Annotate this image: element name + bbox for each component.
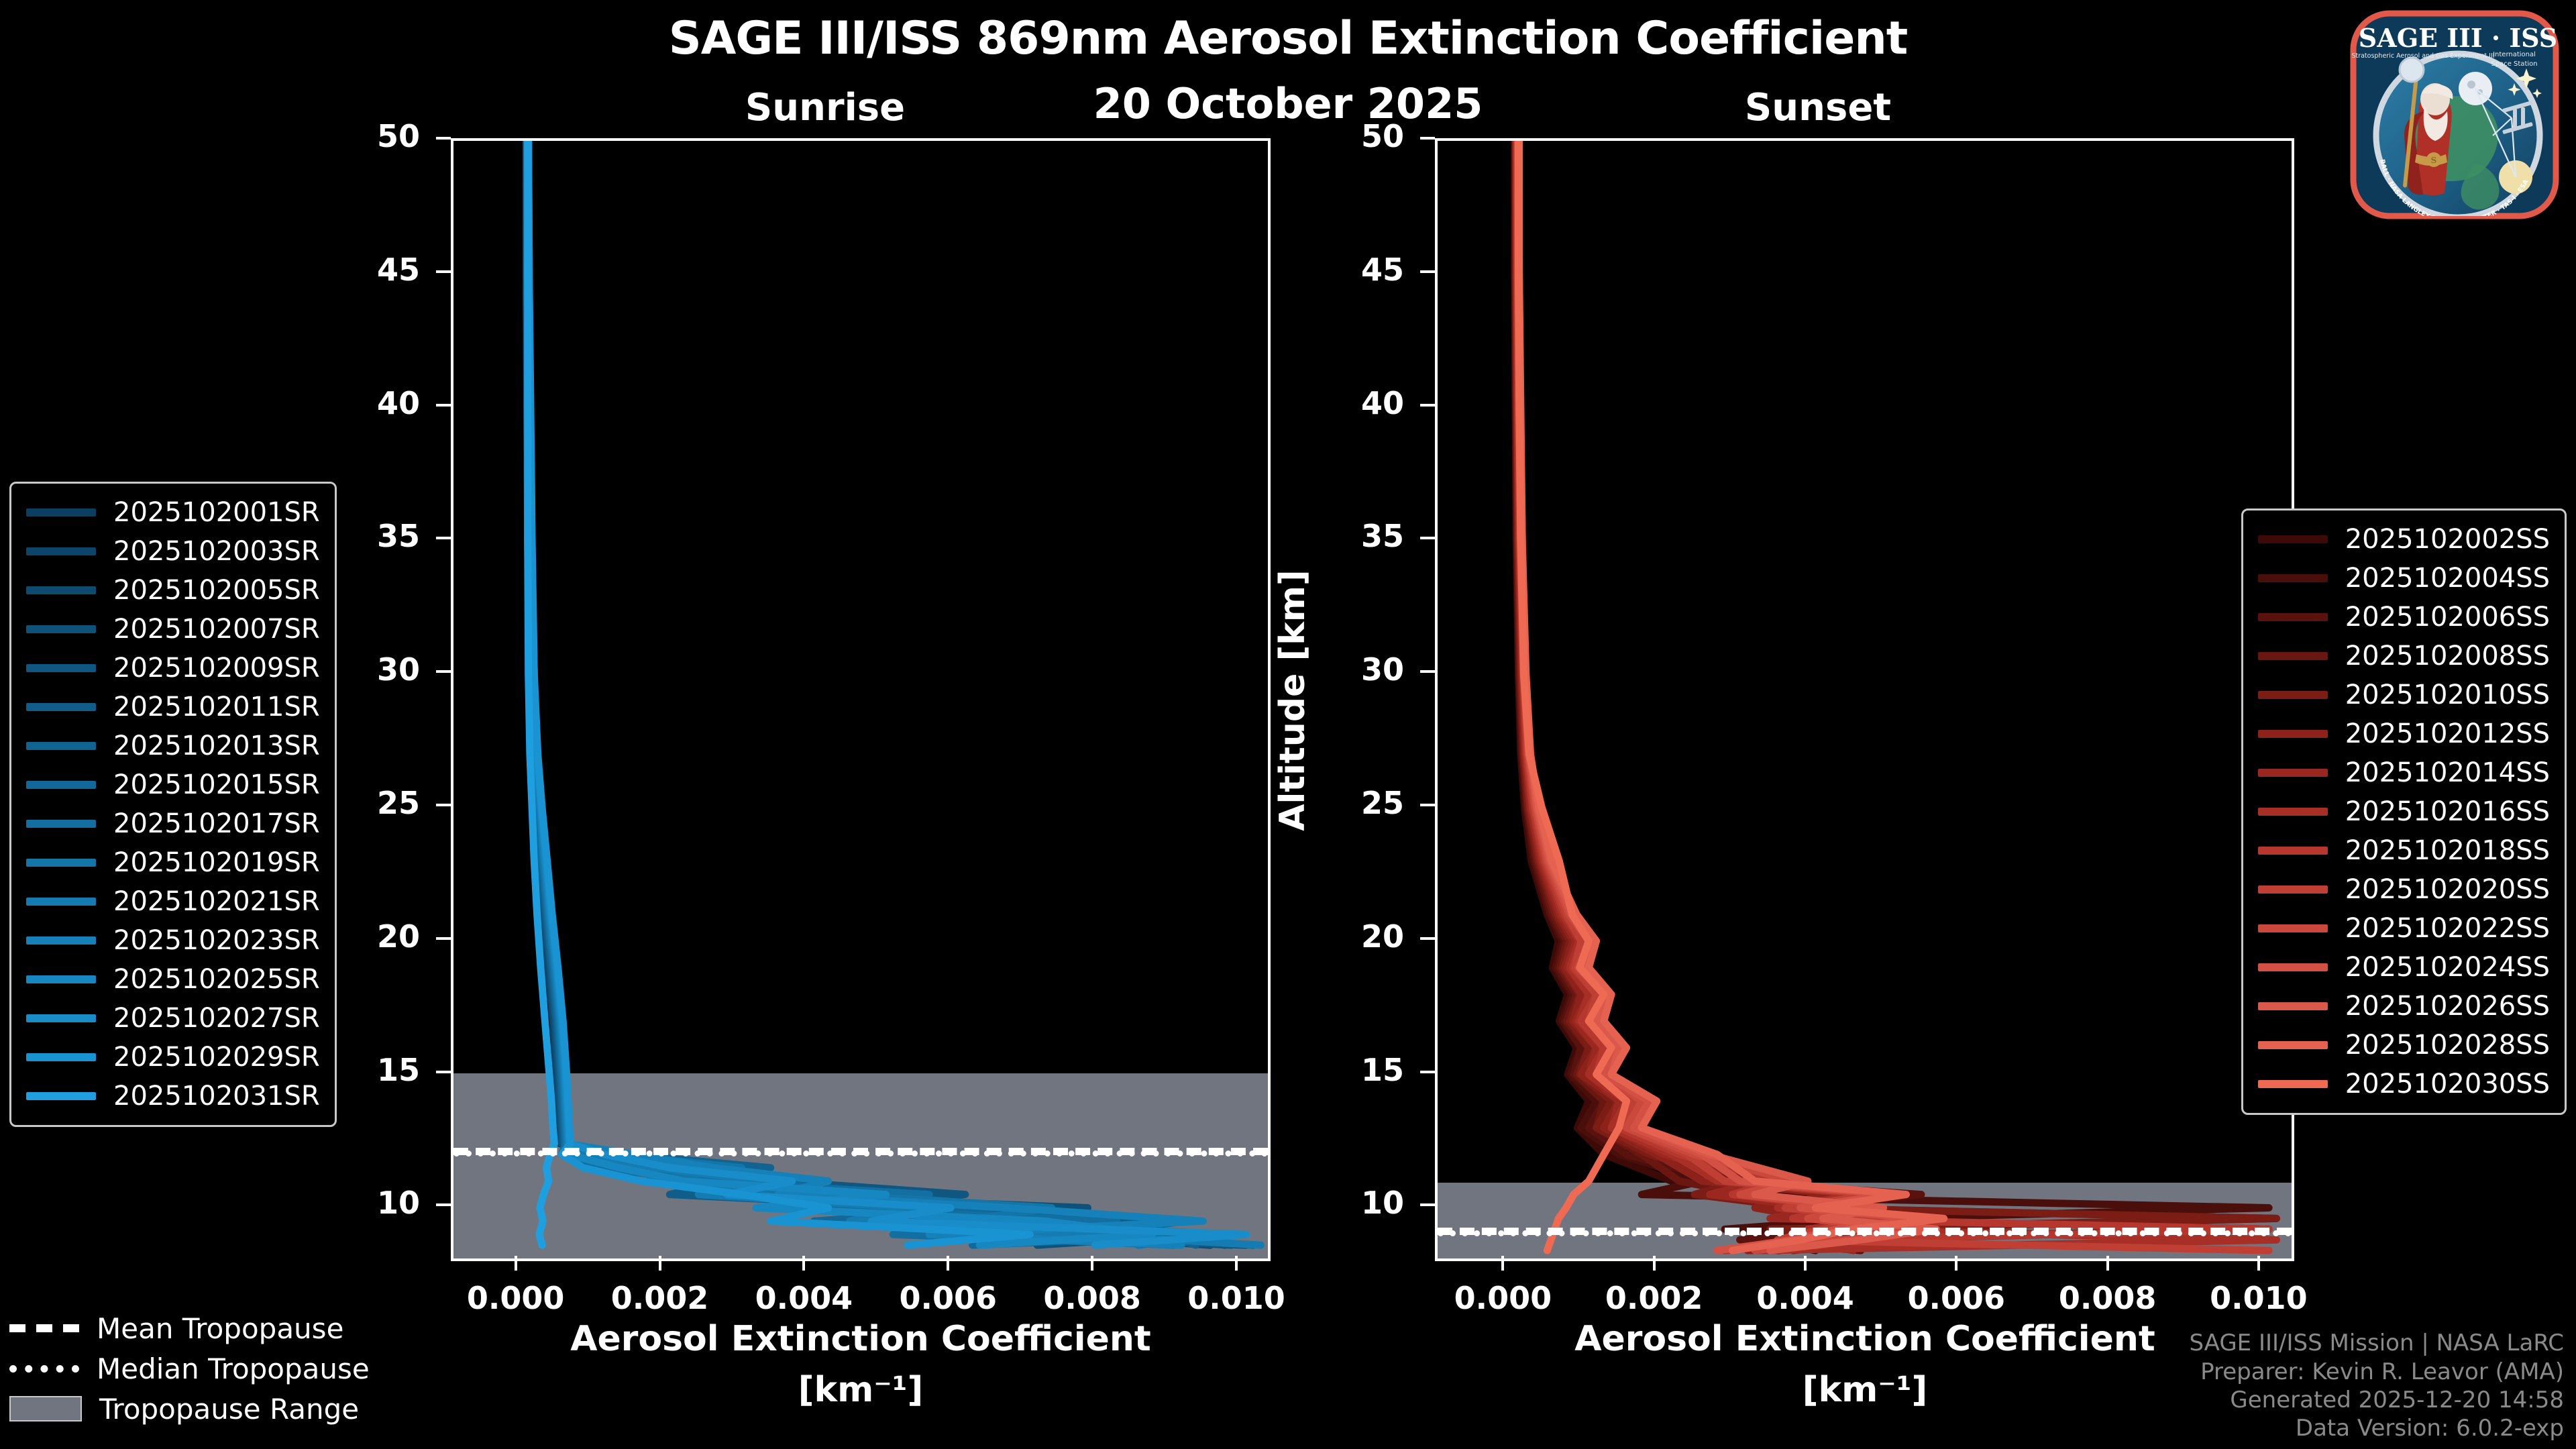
x-tick <box>1955 1256 1957 1271</box>
y-tick <box>436 137 451 140</box>
x-tick <box>1804 1256 1807 1271</box>
legend-label: 2025102022SS <box>2345 913 2550 944</box>
x-tick <box>1235 1256 1238 1271</box>
x-tick-label: 0.010 <box>2171 1280 2346 1316</box>
legend-label-tropopause-range: Tropopause Range <box>99 1393 359 1426</box>
legend-label: 2025102003SR <box>113 536 320 567</box>
legend-label: 2025102009SR <box>113 653 320 684</box>
legend-item[interactable]: 2025102002SS <box>2258 520 2550 559</box>
legend-label: 2025102011SR <box>113 692 320 722</box>
legend-item[interactable]: 2025102005SR <box>26 571 320 610</box>
y-tick <box>1420 537 1435 539</box>
legend-label: 2025102013SR <box>113 731 320 761</box>
y-tick <box>1420 1071 1435 1073</box>
legend-item[interactable]: 2025102018SS <box>2258 831 2550 870</box>
sunset-x-axis-label: Aerosol Extinction Coefficient <box>1462 1319 2267 1359</box>
series-line <box>528 141 1232 1245</box>
y-tick-label: 20 <box>1290 918 1404 955</box>
legend-label: 2025102008SS <box>2345 641 2550 672</box>
series-color-swatch <box>26 664 96 672</box>
y-tick-label: 10 <box>1290 1185 1404 1221</box>
y-tick <box>436 804 451 806</box>
x-tick-label: 0.006 <box>1869 1280 2043 1316</box>
legend-label: 2025102023SR <box>113 925 320 956</box>
x-tick <box>1091 1256 1093 1271</box>
median-tropopause-line <box>453 1150 1268 1157</box>
legend-item-tropopause-range: Tropopause Range <box>9 1389 370 1429</box>
legend-label: 2025102018SS <box>2345 835 2550 866</box>
y-tick <box>436 1071 451 1073</box>
legend-label: 2025102025SR <box>113 964 320 995</box>
series-color-swatch <box>2258 847 2328 855</box>
sunrise-x-axis-label: Aerosol Extinction Coefficient <box>458 1319 1263 1359</box>
legend-label: 2025102030SS <box>2345 1069 2550 1099</box>
legend-item[interactable]: 2025102016SS <box>2258 792 2550 831</box>
legend-label: 2025102001SR <box>113 497 320 528</box>
credit-line-generated: Generated 2025-12-20 14:58 <box>2189 1386 2564 1414</box>
series-color-swatch <box>2258 691 2328 699</box>
sunset-legend[interactable]: 2025102002SS2025102004SS2025102006SS2025… <box>2241 508 2567 1115</box>
x-tick <box>947 1256 949 1271</box>
series-color-swatch <box>26 975 96 983</box>
y-tick <box>436 937 451 940</box>
x-tick <box>802 1256 805 1271</box>
legend-label: 2025102002SS <box>2345 524 2550 555</box>
median-tropopause-line <box>1438 1230 2292 1236</box>
legend-label: 2025102028SS <box>2345 1030 2550 1061</box>
series-color-swatch <box>2258 1080 2328 1088</box>
series-color-swatch <box>26 508 96 517</box>
dashed-line-icon <box>9 1324 79 1332</box>
series-line <box>527 141 1218 1245</box>
sunset-x-axis-units: [km⁻¹] <box>1462 1370 2267 1410</box>
legend-label: 2025102015SR <box>113 769 320 800</box>
legend-label: 2025102026SS <box>2345 991 2550 1022</box>
legend-item[interactable]: 2025102001SR <box>26 493 320 532</box>
series-color-swatch <box>26 936 96 945</box>
legend-label: 2025102019SR <box>113 847 320 878</box>
series-line <box>528 141 1261 1245</box>
x-tick <box>515 1256 517 1271</box>
series-color-swatch <box>26 586 96 594</box>
y-tick <box>1420 804 1435 806</box>
series-line <box>529 141 1246 1245</box>
series-color-swatch <box>2258 1041 2328 1049</box>
y-tick <box>436 404 451 407</box>
y-tick <box>1420 937 1435 940</box>
series-line <box>527 141 1225 1245</box>
legend-label: 2025102031SR <box>113 1081 320 1112</box>
legend-label: 2025102016SS <box>2345 796 2550 827</box>
sunset-series-group <box>1438 141 2292 1258</box>
legend-item[interactable]: 2025102009SR <box>26 649 320 688</box>
svg-text:SAGE III · ISS: SAGE III · ISS <box>2359 23 2557 53</box>
series-color-swatch <box>2258 730 2328 738</box>
svg-text:International: International <box>2493 51 2536 58</box>
y-tick <box>1420 137 1435 140</box>
legend-item[interactable]: 2025102029SR <box>26 1038 320 1077</box>
legend-label-mean-tropopause: Mean Tropopause <box>97 1312 343 1345</box>
series-color-swatch <box>2258 924 2328 932</box>
legend-label: 2025102021SR <box>113 886 320 917</box>
legend-item[interactable]: 2025102024SS <box>2258 948 2550 987</box>
series-line <box>527 141 1232 1245</box>
legend-label: 2025102014SS <box>2345 757 2550 788</box>
sunset-plot-area <box>1435 138 2294 1261</box>
y-tick-label: 45 <box>1290 252 1404 288</box>
svg-text:S: S <box>2431 156 2437 165</box>
sunrise-x-axis-units: [km⁻¹] <box>458 1370 1263 1410</box>
legend-label: 2025102007SR <box>113 614 320 645</box>
sunset-y-axis-label: Altitude [km] <box>1273 499 1313 902</box>
legend-item[interactable]: 2025102020SS <box>2258 870 2550 909</box>
legend-item-median-tropopause: Median Tropopause <box>9 1348 370 1389</box>
legend-item-mean-tropopause: Mean Tropopause <box>9 1308 370 1348</box>
series-color-swatch <box>26 1014 96 1022</box>
legend-item[interactable]: 2025102004SS <box>2258 559 2550 598</box>
legend-label: 2025102017SR <box>113 808 320 839</box>
series-line <box>527 141 1203 1245</box>
legend-item[interactable]: 2025102019SR <box>26 843 320 882</box>
x-tick <box>1501 1256 1504 1271</box>
series-color-swatch <box>26 859 96 867</box>
series-line <box>528 141 1203 1245</box>
legend-label: 2025102020SS <box>2345 874 2550 905</box>
legend-item[interactable]: 2025102022SS <box>2258 909 2550 948</box>
legend-item[interactable]: 2025102021SR <box>26 882 320 921</box>
series-color-swatch <box>26 547 96 555</box>
y-tick <box>436 1203 451 1206</box>
legend-label: 2025102004SS <box>2345 563 2550 594</box>
legend-label-median-tropopause: Median Tropopause <box>97 1352 370 1385</box>
sunrise-panel-title: Sunrise <box>590 86 1060 129</box>
legend-label: 2025102012SS <box>2345 718 2550 749</box>
x-tick-label: 0.000 <box>1415 1280 1590 1316</box>
tropopause-legend: Mean Tropopause Median Tropopause Tropop… <box>9 1308 370 1429</box>
y-tick <box>436 670 451 673</box>
legend-item[interactable]: 2025102014SS <box>2258 753 2550 792</box>
credit-line-preparer: Preparer: Kevin R. Leavor (AMA) <box>2189 1358 2564 1386</box>
x-tick-label: 0.008 <box>2021 1280 2195 1316</box>
legend-item[interactable]: 2025102006SS <box>2258 598 2550 637</box>
legend-label: 2025102005SR <box>113 575 320 606</box>
legend-item[interactable]: 2025102015SR <box>26 765 320 804</box>
sunrise-legend[interactable]: 2025102001SR2025102003SR2025102005SR2025… <box>9 482 337 1127</box>
sunset-panel-title: Sunset <box>1583 86 2053 129</box>
series-color-swatch <box>2258 574 2328 582</box>
sunrise-plot-area <box>451 138 1271 1261</box>
y-tick <box>1420 670 1435 673</box>
y-tick <box>1420 1203 1435 1206</box>
series-line <box>527 141 1196 1245</box>
sage-iii-iss-logo: S BALL · NASA LANGLEY RESEARCH CENTER · … <box>2344 4 2565 225</box>
series-line <box>527 141 1211 1245</box>
series-color-swatch <box>2258 885 2328 894</box>
legend-item[interactable]: 2025102012SS <box>2258 714 2550 753</box>
y-tick <box>1420 404 1435 407</box>
y-tick <box>436 537 451 539</box>
legend-item[interactable]: 2025102027SR <box>26 999 320 1038</box>
legend-item[interactable]: 2025102023SR <box>26 921 320 960</box>
legend-item[interactable]: 2025102003SR <box>26 532 320 571</box>
x-tick-label: 0.010 <box>1149 1280 1324 1316</box>
sunrise-series-group <box>453 141 1268 1258</box>
series-color-swatch <box>26 820 96 828</box>
x-tick-label: 0.004 <box>1718 1280 1892 1316</box>
legend-item[interactable]: 2025102017SR <box>26 804 320 843</box>
legend-label: 2025102027SR <box>113 1003 320 1034</box>
series-color-swatch <box>2258 808 2328 816</box>
series-line <box>528 141 1175 1245</box>
legend-item[interactable]: 2025102013SR <box>26 727 320 765</box>
svg-text:Space Station: Space Station <box>2491 60 2537 68</box>
y-tick-label: 50 <box>306 118 420 154</box>
series-color-swatch <box>2258 769 2328 777</box>
legend-label: 2025102024SS <box>2345 952 2550 983</box>
page-title: SAGE III/ISS 869nm Aerosol Extinction Co… <box>0 12 2576 65</box>
series-color-swatch <box>2258 652 2328 660</box>
x-tick <box>1653 1256 1656 1271</box>
series-color-swatch <box>2258 613 2328 621</box>
legend-label: 2025102010SS <box>2345 680 2550 710</box>
series-line <box>529 141 1152 1245</box>
y-tick <box>436 270 451 273</box>
credit-line-version: Data Version: 6.0.2-exp <box>2189 1414 2564 1442</box>
series-color-swatch <box>2258 535 2328 543</box>
y-tick-label: 40 <box>1290 385 1404 421</box>
y-tick-label: 40 <box>306 385 420 421</box>
series-color-swatch <box>26 742 96 750</box>
series-line <box>529 141 1030 1245</box>
legend-item[interactable]: 2025102031SR <box>26 1077 320 1116</box>
x-tick <box>659 1256 661 1271</box>
credits-block: SAGE III/ISS Mission | NASA LaRC Prepare… <box>2189 1329 2564 1442</box>
y-tick-label: 10 <box>306 1185 420 1221</box>
y-tick-label: 45 <box>306 252 420 288</box>
dotted-line-icon <box>9 1365 79 1373</box>
y-tick-label: 50 <box>1290 118 1404 154</box>
series-color-swatch <box>26 1053 96 1061</box>
legend-label: 2025102029SR <box>113 1042 320 1073</box>
x-tick <box>2106 1256 2109 1271</box>
series-color-swatch <box>2258 963 2328 971</box>
x-tick <box>2257 1256 2260 1271</box>
y-tick <box>1420 270 1435 273</box>
series-color-swatch <box>26 1092 96 1100</box>
legend-item[interactable]: 2025102007SR <box>26 610 320 649</box>
series-line <box>527 141 1254 1245</box>
series-color-swatch <box>26 781 96 789</box>
svg-text:Stratospheric Aerosol and Gas: Stratospheric Aerosol and Gas Experiment… <box>2351 52 2494 60</box>
series-color-swatch <box>2258 1002 2328 1010</box>
legend-item[interactable]: 2025102010SS <box>2258 676 2550 714</box>
x-tick-label: 0.002 <box>1567 1280 1741 1316</box>
series-color-swatch <box>26 703 96 711</box>
legend-item[interactable]: 2025102025SR <box>26 960 320 999</box>
series-color-swatch <box>26 625 96 633</box>
legend-item[interactable]: 2025102028SS <box>2258 1026 2550 1065</box>
series-color-swatch <box>26 898 96 906</box>
series-line <box>527 141 1246 1245</box>
legend-item[interactable]: 2025102011SR <box>26 688 320 727</box>
legend-item[interactable]: 2025102026SS <box>2258 987 2550 1026</box>
y-tick-label: 15 <box>1290 1052 1404 1088</box>
band-swatch-icon <box>9 1396 82 1421</box>
legend-item[interactable]: 2025102030SS <box>2258 1065 2550 1104</box>
legend-item[interactable]: 2025102008SS <box>2258 637 2550 676</box>
credit-line-mission: SAGE III/ISS Mission | NASA LaRC <box>2189 1329 2564 1357</box>
legend-label: 2025102006SS <box>2345 602 2550 633</box>
